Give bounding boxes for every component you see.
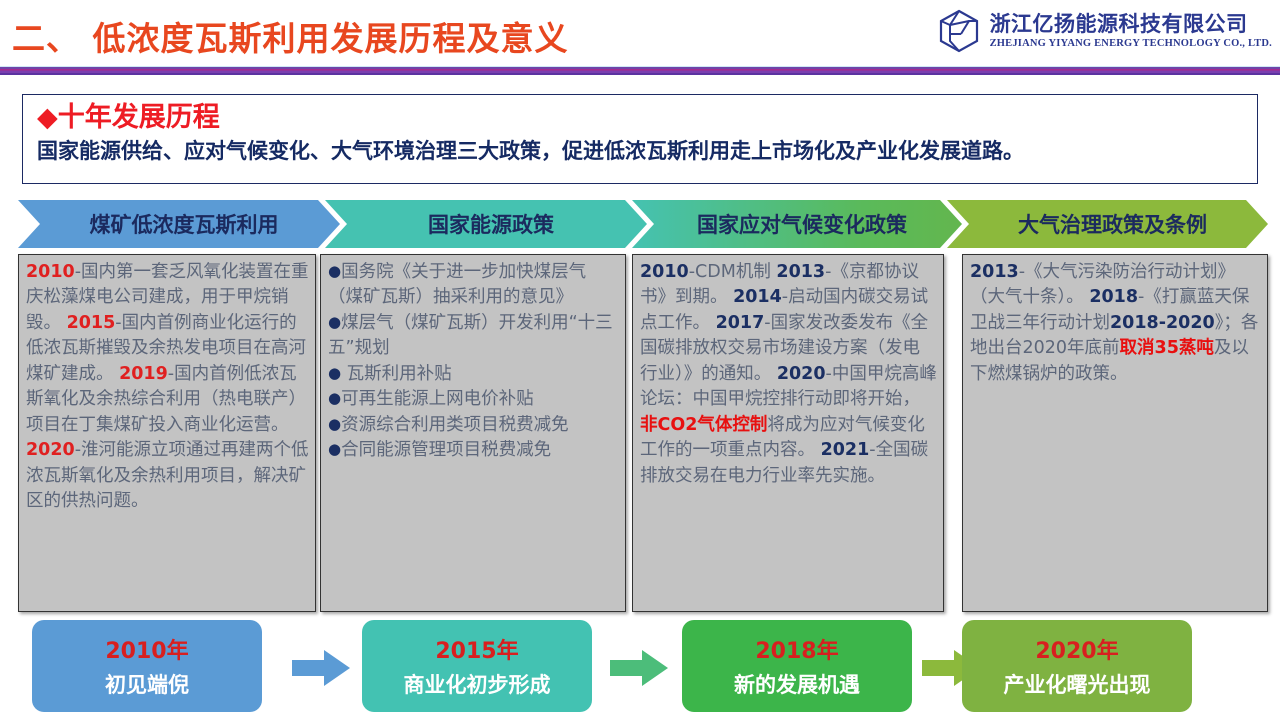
entry-year: 2014 bbox=[733, 287, 782, 307]
chevron-climate-policy[interactable]: 国家应对气候变化政策 bbox=[632, 200, 962, 248]
bullet-dot-icon: ● bbox=[328, 389, 341, 407]
bullet-dot-icon: ● bbox=[328, 415, 341, 433]
chevron-banner: 煤矿低浓度瓦斯利用 国家能源政策 国家应对气候变化政策 大气治理政策及条例 bbox=[18, 200, 1268, 248]
content-column-energy-policy: ●国务院《关于进一步加快煤层气（煤矿瓦斯）抽采利用的意见》 ●煤层气（煤矿瓦斯）… bbox=[320, 254, 626, 612]
logo-text-block: 浙江亿扬能源科技有限公司 ZHEJIANG YIYANG ENERGY TECH… bbox=[990, 13, 1272, 48]
entry-year: 2017 bbox=[716, 313, 765, 333]
bullet-dot-icon: ● bbox=[328, 313, 341, 331]
timeline-label: 产业化曙光出现 bbox=[1004, 669, 1151, 699]
timeline-stage-2018[interactable]: 2018年 新的发展机遇 bbox=[682, 620, 912, 712]
arrow-right-icon-2 bbox=[610, 648, 670, 688]
bullet-dot-icon: ● bbox=[328, 364, 341, 382]
entry-year: 2013 bbox=[970, 262, 1019, 282]
timeline-label: 商业化初步形成 bbox=[404, 669, 551, 699]
entry-bold-part: 2018-2020 bbox=[1110, 313, 1215, 333]
list-item: ● 瓦斯利用补贴 bbox=[328, 362, 619, 387]
entry-highlight: 取消35蒸吨 bbox=[1120, 338, 1214, 358]
bullet-dot-icon: ● bbox=[328, 262, 341, 280]
timeline-footer: 2010年 初见端倪 2015年 商业化初步形成 2018年 新的发展机遇 20… bbox=[0, 620, 1280, 720]
list-item: 2020-淮河能源立项通过再建两个低浓瓦斯氧化及余热利用项目，解决矿区的供热问题… bbox=[26, 440, 309, 511]
entry-year: 2021 bbox=[821, 440, 870, 460]
chevron-coal-mine-gas[interactable]: 煤矿低浓度瓦斯利用 bbox=[18, 200, 340, 248]
timeline-year: 2018年 bbox=[755, 633, 838, 665]
timeline-year: 2015年 bbox=[435, 633, 518, 665]
bullet-text: 瓦斯利用补贴 bbox=[341, 364, 452, 384]
timeline-label: 初见端倪 bbox=[105, 669, 189, 699]
list-item: ●煤层气（煤矿瓦斯）开发利用“十三五”规划 bbox=[328, 311, 619, 362]
chevron-air-policy[interactable]: 大气治理政策及条例 bbox=[947, 200, 1268, 248]
bullet-text: 煤层气（煤矿瓦斯）开发利用“十三五”规划 bbox=[328, 313, 613, 358]
hexagon-cube-logo-icon bbox=[936, 8, 982, 54]
timeline-stage-2015[interactable]: 2015年 商业化初步形成 bbox=[362, 620, 592, 712]
entry-year: 2013 bbox=[776, 262, 825, 282]
entry-year: 2015 bbox=[67, 313, 116, 333]
entry-year: 2010 bbox=[26, 262, 75, 282]
list-item: ●资源综合利用类项目税费减免 bbox=[328, 413, 619, 438]
slide-header: 二、 低浓度瓦斯利用发展历程及意义 浙江亿扬能源科技有限公司 ZHEJIANG … bbox=[0, 0, 1280, 66]
company-name-cn: 浙江亿扬能源科技有限公司 bbox=[990, 13, 1248, 35]
subtitle-panel: ◆十年发展历程 国家能源供给、应对气候变化、大气环境治理三大政策，促进低浓瓦斯利… bbox=[22, 94, 1258, 184]
company-name-en: ZHEJIANG YIYANG ENERGY TECHNOLOGY CO., L… bbox=[990, 38, 1272, 49]
bullet-text: 可再生能源上网电价补贴 bbox=[341, 389, 534, 409]
timeline-stage-2020[interactable]: 2020年 产业化曙光出现 bbox=[962, 620, 1192, 712]
entry-year: 2020 bbox=[777, 364, 826, 384]
subtitle-heading: ◆十年发展历程 bbox=[37, 102, 1243, 134]
list-item: ●可再生能源上网电价补贴 bbox=[328, 387, 619, 412]
timeline-stage-2010[interactable]: 2010年 初见端倪 bbox=[32, 620, 262, 712]
entry-year: 2020 bbox=[26, 440, 75, 460]
header-divider bbox=[0, 66, 1280, 75]
bullet-dot-icon: ● bbox=[328, 440, 341, 458]
content-column-air-policy: 2013-《大气污染防治行动计划》（大气十条）。 2018-《打赢蓝天保卫战三年… bbox=[962, 254, 1268, 612]
content-column-coal-mine-gas: 2010-国内第一套乏风氧化装置在重庆松藻煤电公司建成，用于甲烷销毁。 2015… bbox=[18, 254, 316, 612]
entry-highlight: 非CO2气体控制 bbox=[640, 415, 767, 435]
list-item: ●合同能源管理项目税费减免 bbox=[328, 438, 619, 463]
entry-year: 2019 bbox=[119, 364, 168, 384]
list-item: ●国务院《关于进一步加快煤层气（煤矿瓦斯）抽采利用的意见》 bbox=[328, 260, 619, 311]
bullet-text: 资源综合利用类项目税费减免 bbox=[341, 415, 569, 435]
bullet-text: 合同能源管理项目税费减免 bbox=[341, 440, 551, 460]
subtitle-body: 国家能源供给、应对气候变化、大气环境治理三大政策，促进低浓瓦斯利用走上市场化及产… bbox=[37, 139, 1243, 164]
content-column-climate-policy: 2010-CDM机制 2013-《京都协议书》到期。 2014-启动国内碳交易试… bbox=[632, 254, 944, 612]
entry-year: 2010 bbox=[640, 262, 689, 282]
list-item: 2010-CDM机制 bbox=[640, 262, 771, 282]
page-title: 二、 低浓度瓦斯利用发展历程及意义 bbox=[12, 12, 569, 60]
timeline-year: 2010年 bbox=[105, 633, 188, 665]
timeline-label: 新的发展机遇 bbox=[734, 669, 860, 699]
company-logo: 浙江亿扬能源科技有限公司 ZHEJIANG YIYANG ENERGY TECH… bbox=[936, 8, 1272, 54]
bullet-text: 国务院《关于进一步加快煤层气（煤矿瓦斯）抽采利用的意见》 bbox=[328, 262, 586, 307]
entry-year: 2018 bbox=[1089, 287, 1138, 307]
chevron-energy-policy[interactable]: 国家能源政策 bbox=[325, 200, 647, 248]
arrow-right-icon-1 bbox=[292, 648, 352, 688]
entry-text: -CDM机制 bbox=[689, 262, 771, 282]
timeline-year: 2020年 bbox=[1035, 633, 1118, 665]
